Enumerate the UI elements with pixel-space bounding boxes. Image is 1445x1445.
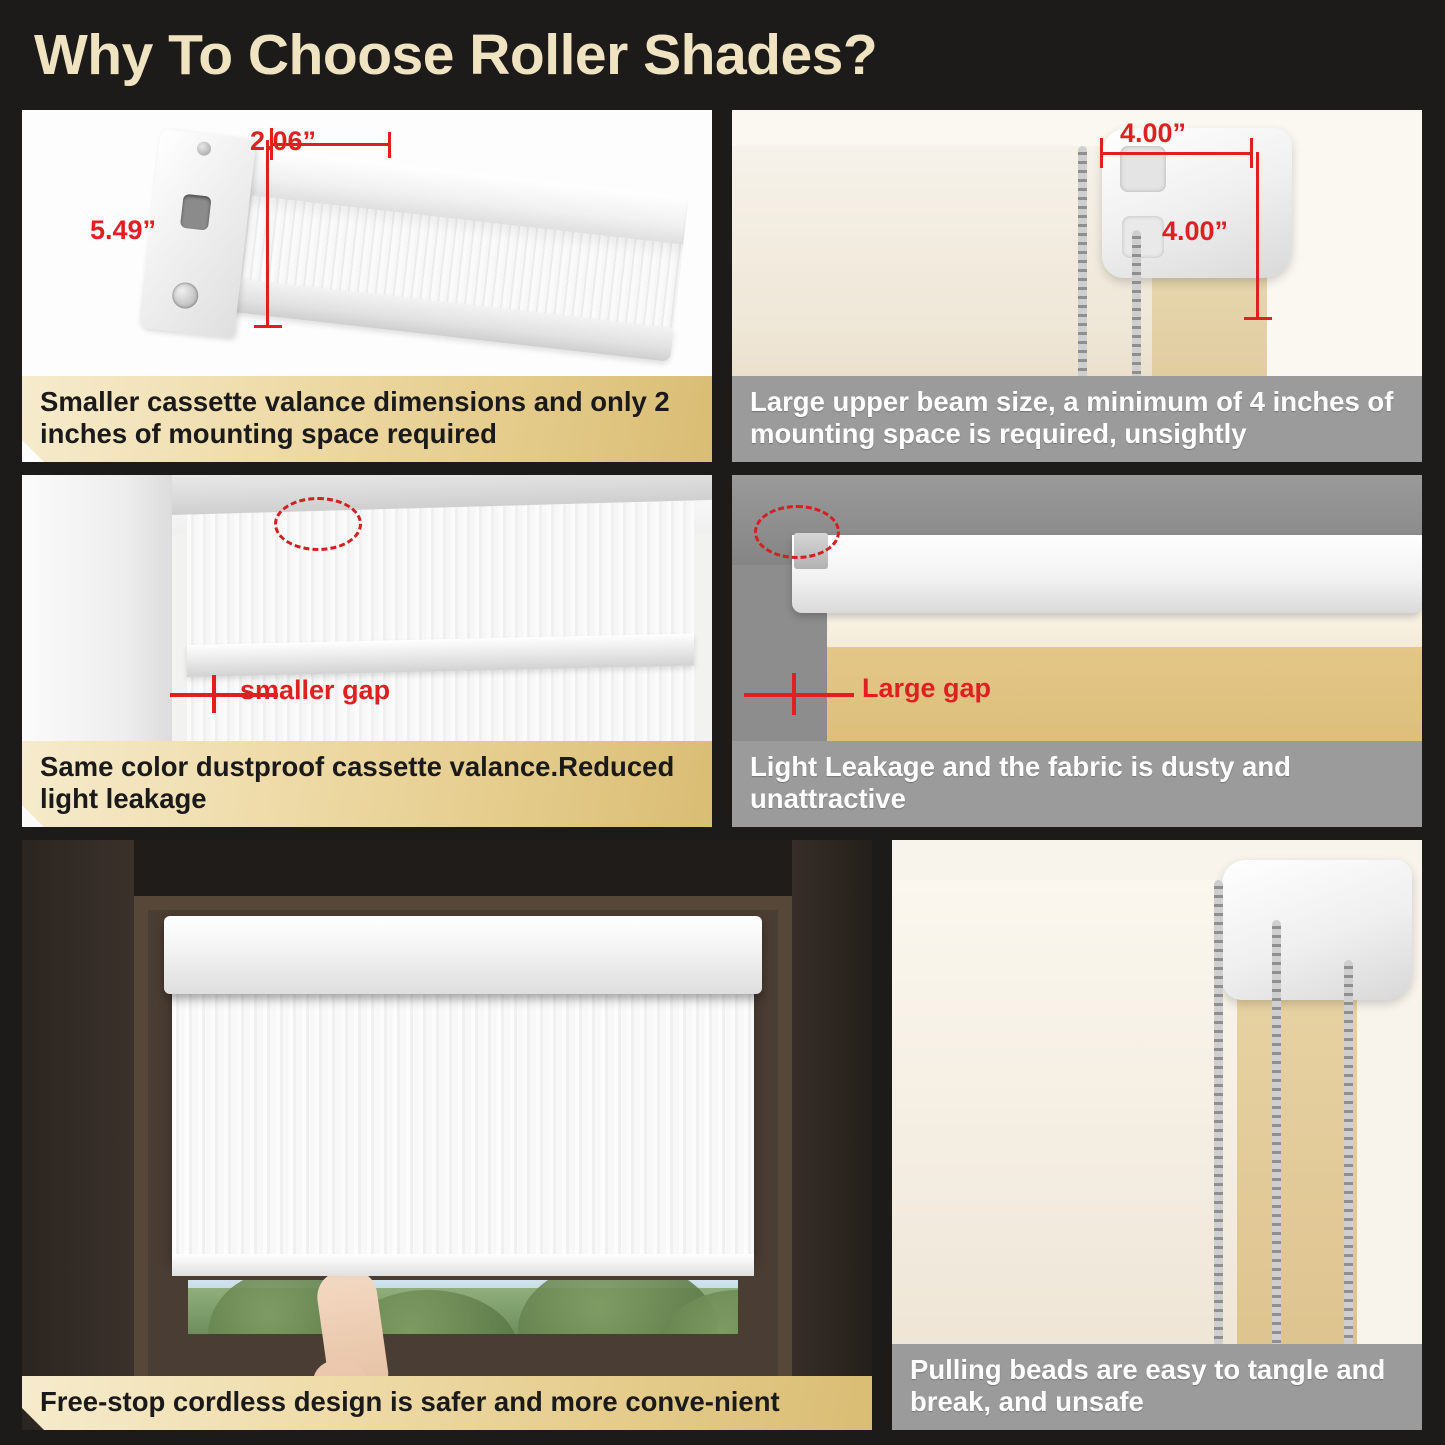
infographic-page: Why To Choose Roller Shades?: [0, 0, 1445, 1445]
dim-height-line: [1256, 152, 1259, 320]
gap-label: Large gap: [862, 673, 991, 704]
width-dimension-label: 4.00”: [1120, 118, 1186, 149]
panel-6-caption: Pulling beads are easy to tangle and bre…: [892, 1344, 1422, 1430]
panel-3: smaller gap Same color dustproof cassett…: [22, 475, 712, 827]
highlight-circle: [754, 505, 840, 559]
panel-3-caption: Same color dustproof cassette valance.Re…: [22, 741, 712, 827]
width-dimension-label: 2.06”: [250, 126, 316, 157]
panel-4: Large gap Light Leakage and the fabric i…: [732, 475, 1422, 827]
panel-5: Free-stop cordless design is safer and m…: [22, 840, 872, 1430]
panel-5-image: [22, 840, 872, 1430]
height-dimension-label: 5.49”: [90, 215, 156, 246]
gap-tick: [792, 673, 796, 715]
dim-width-tick-left: [1100, 138, 1103, 168]
gap-tick: [212, 675, 216, 713]
gap-label: smaller gap: [240, 675, 390, 706]
dim-width-line: [1100, 152, 1252, 155]
panel-1: 2.06” 5.49” Smaller cassette valance dim…: [22, 110, 712, 462]
gap-line: [744, 693, 854, 697]
panel-grid: 2.06” 5.49” Smaller cassette valance dim…: [22, 110, 1422, 1430]
height-dimension-label: 4.00”: [1162, 216, 1228, 247]
panel-5-caption: Free-stop cordless design is safer and m…: [22, 1376, 872, 1430]
bead-chain-right: [1272, 920, 1281, 1360]
dim-width-tick-right: [1250, 138, 1253, 168]
bead-chain-far-right: [1344, 960, 1353, 1360]
dim-height-line: [266, 140, 269, 328]
panel-1-caption: Smaller cassette valance dimensions and …: [22, 376, 712, 462]
highlight-circle: [274, 497, 362, 551]
page-title: Why To Choose Roller Shades?: [34, 22, 877, 88]
dim-height-tick-bottom: [254, 325, 282, 328]
bead-chain-left: [1214, 880, 1223, 1360]
dim-width-tick-right: [388, 132, 391, 158]
dim-height-tick-bottom: [1244, 317, 1272, 320]
panel-4-caption: Light Leakage and the fabric is dusty an…: [732, 741, 1422, 827]
panel-2-caption: Large upper beam size, a minimum of 4 in…: [732, 376, 1422, 462]
panel-2: 4.00” 4.00” Large upper beam size, a min…: [732, 110, 1422, 462]
panel-6: Pulling beads are easy to tangle and bre…: [892, 840, 1422, 1430]
panel-6-image: [892, 840, 1422, 1430]
